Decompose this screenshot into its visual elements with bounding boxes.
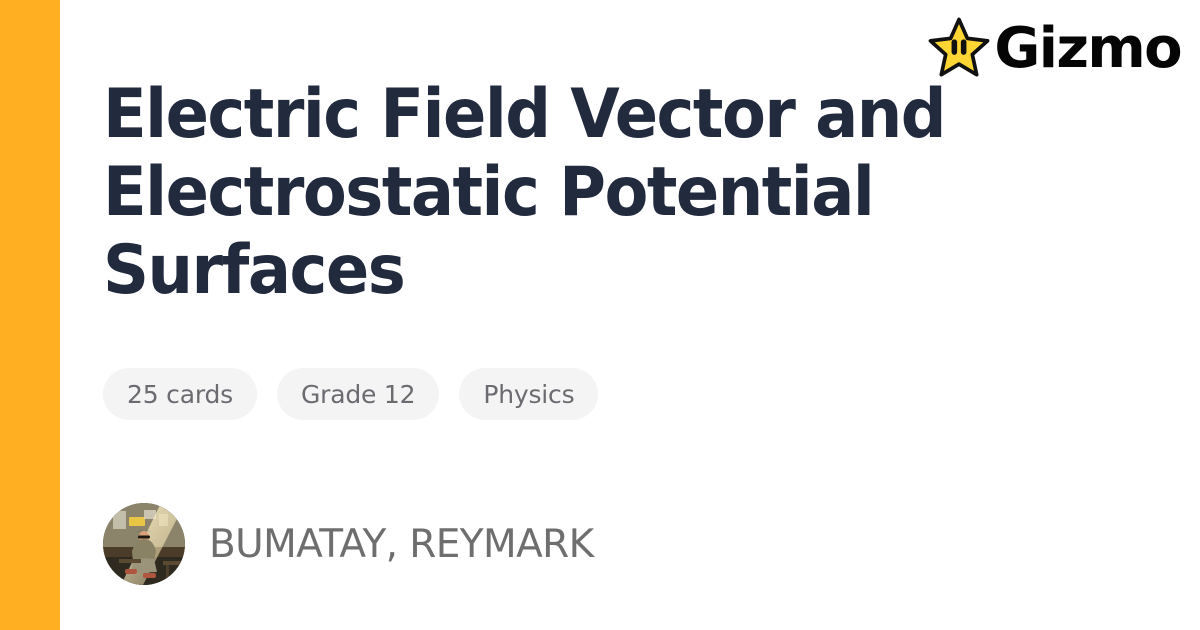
- pill-label: Grade 12: [301, 382, 415, 407]
- pill-label: Physics: [483, 382, 574, 407]
- pill-grade: Grade 12: [277, 368, 439, 420]
- deck-title: Electric Field Vector and Electrostatic …: [103, 76, 949, 310]
- brand-wordmark: Gizmo: [994, 21, 1181, 77]
- author-row: BUMATAY, REYMARK: [103, 503, 594, 585]
- star-icon: [928, 17, 990, 79]
- pill-label: 25 cards: [127, 382, 233, 407]
- pill-card-count: 25 cards: [103, 368, 257, 420]
- pill-subject: Physics: [459, 368, 598, 420]
- deck-preview-card: Gizmo Electric Field Vector and Electros…: [0, 0, 1200, 630]
- card-content: Gizmo Electric Field Vector and Electros…: [103, 0, 1200, 630]
- deck-meta-pills: 25 cards Grade 12 Physics: [103, 368, 598, 420]
- author-name: BUMATAY, REYMARK: [209, 525, 594, 564]
- gizmo-logo[interactable]: Gizmo: [928, 17, 1181, 79]
- avatar: [103, 503, 185, 585]
- accent-bar: [0, 0, 60, 630]
